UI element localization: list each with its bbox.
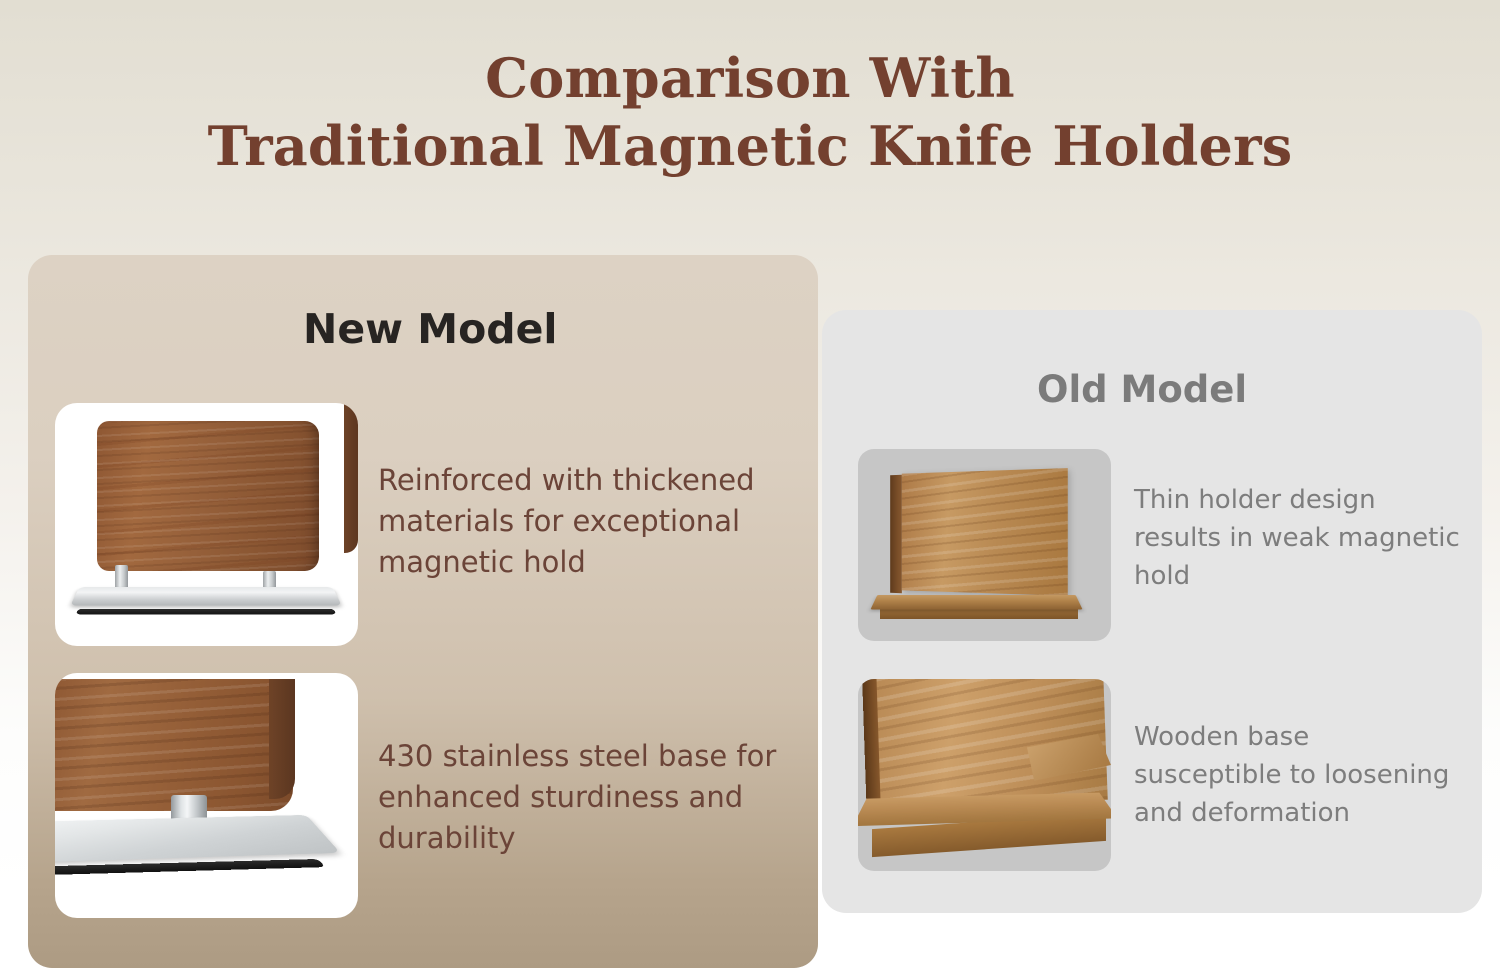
new-model-image-card-2 (55, 673, 358, 918)
page-title-line-1: Comparison With (0, 44, 1500, 112)
acacia-board-side (890, 475, 902, 593)
new-model-heading: New Model (303, 305, 557, 353)
walnut-block-closeup-edge (269, 679, 295, 799)
old-model-heading: Old Model (1037, 368, 1247, 411)
old-model-feature-text-2: Wooden base susceptible to loosening and… (1134, 718, 1464, 832)
page-title-line-2: Traditional Magnetic Knife Holders (0, 112, 1500, 180)
base-plate-underside-closeup (55, 859, 325, 876)
walnut-block-edge (344, 403, 358, 553)
new-model-feature-text-2: 430 stainless steel base for enhanced st… (378, 736, 788, 859)
stainless-steel-plate-closeup (55, 815, 340, 863)
acacia-board-face (902, 468, 1068, 596)
page-title: Comparison With Traditional Magnetic Kni… (0, 44, 1500, 180)
old-model-feature-text-1: Thin holder design results in weak magne… (1134, 481, 1464, 595)
acacia-holder-illustration (858, 449, 1111, 641)
old-model-image-card-2 (858, 679, 1111, 871)
comparison-infographic: Comparison With Traditional Magnetic Kni… (0, 0, 1500, 970)
walnut-holder-illustration (55, 403, 358, 646)
new-model-feature-text-1: Reinforced with thickened materials for … (378, 460, 788, 583)
walnut-block-closeup-face (55, 679, 293, 811)
wooden-base-top (870, 595, 1082, 610)
base-underside (76, 609, 337, 615)
stainless-steel-base-plate (70, 587, 341, 605)
new-model-image-card-1 (55, 403, 358, 646)
steel-base-closeup-illustration (55, 673, 358, 918)
old-model-image-card-1 (858, 449, 1111, 641)
wooden-base-closeup-illustration (858, 679, 1111, 871)
walnut-block-face (97, 421, 319, 571)
